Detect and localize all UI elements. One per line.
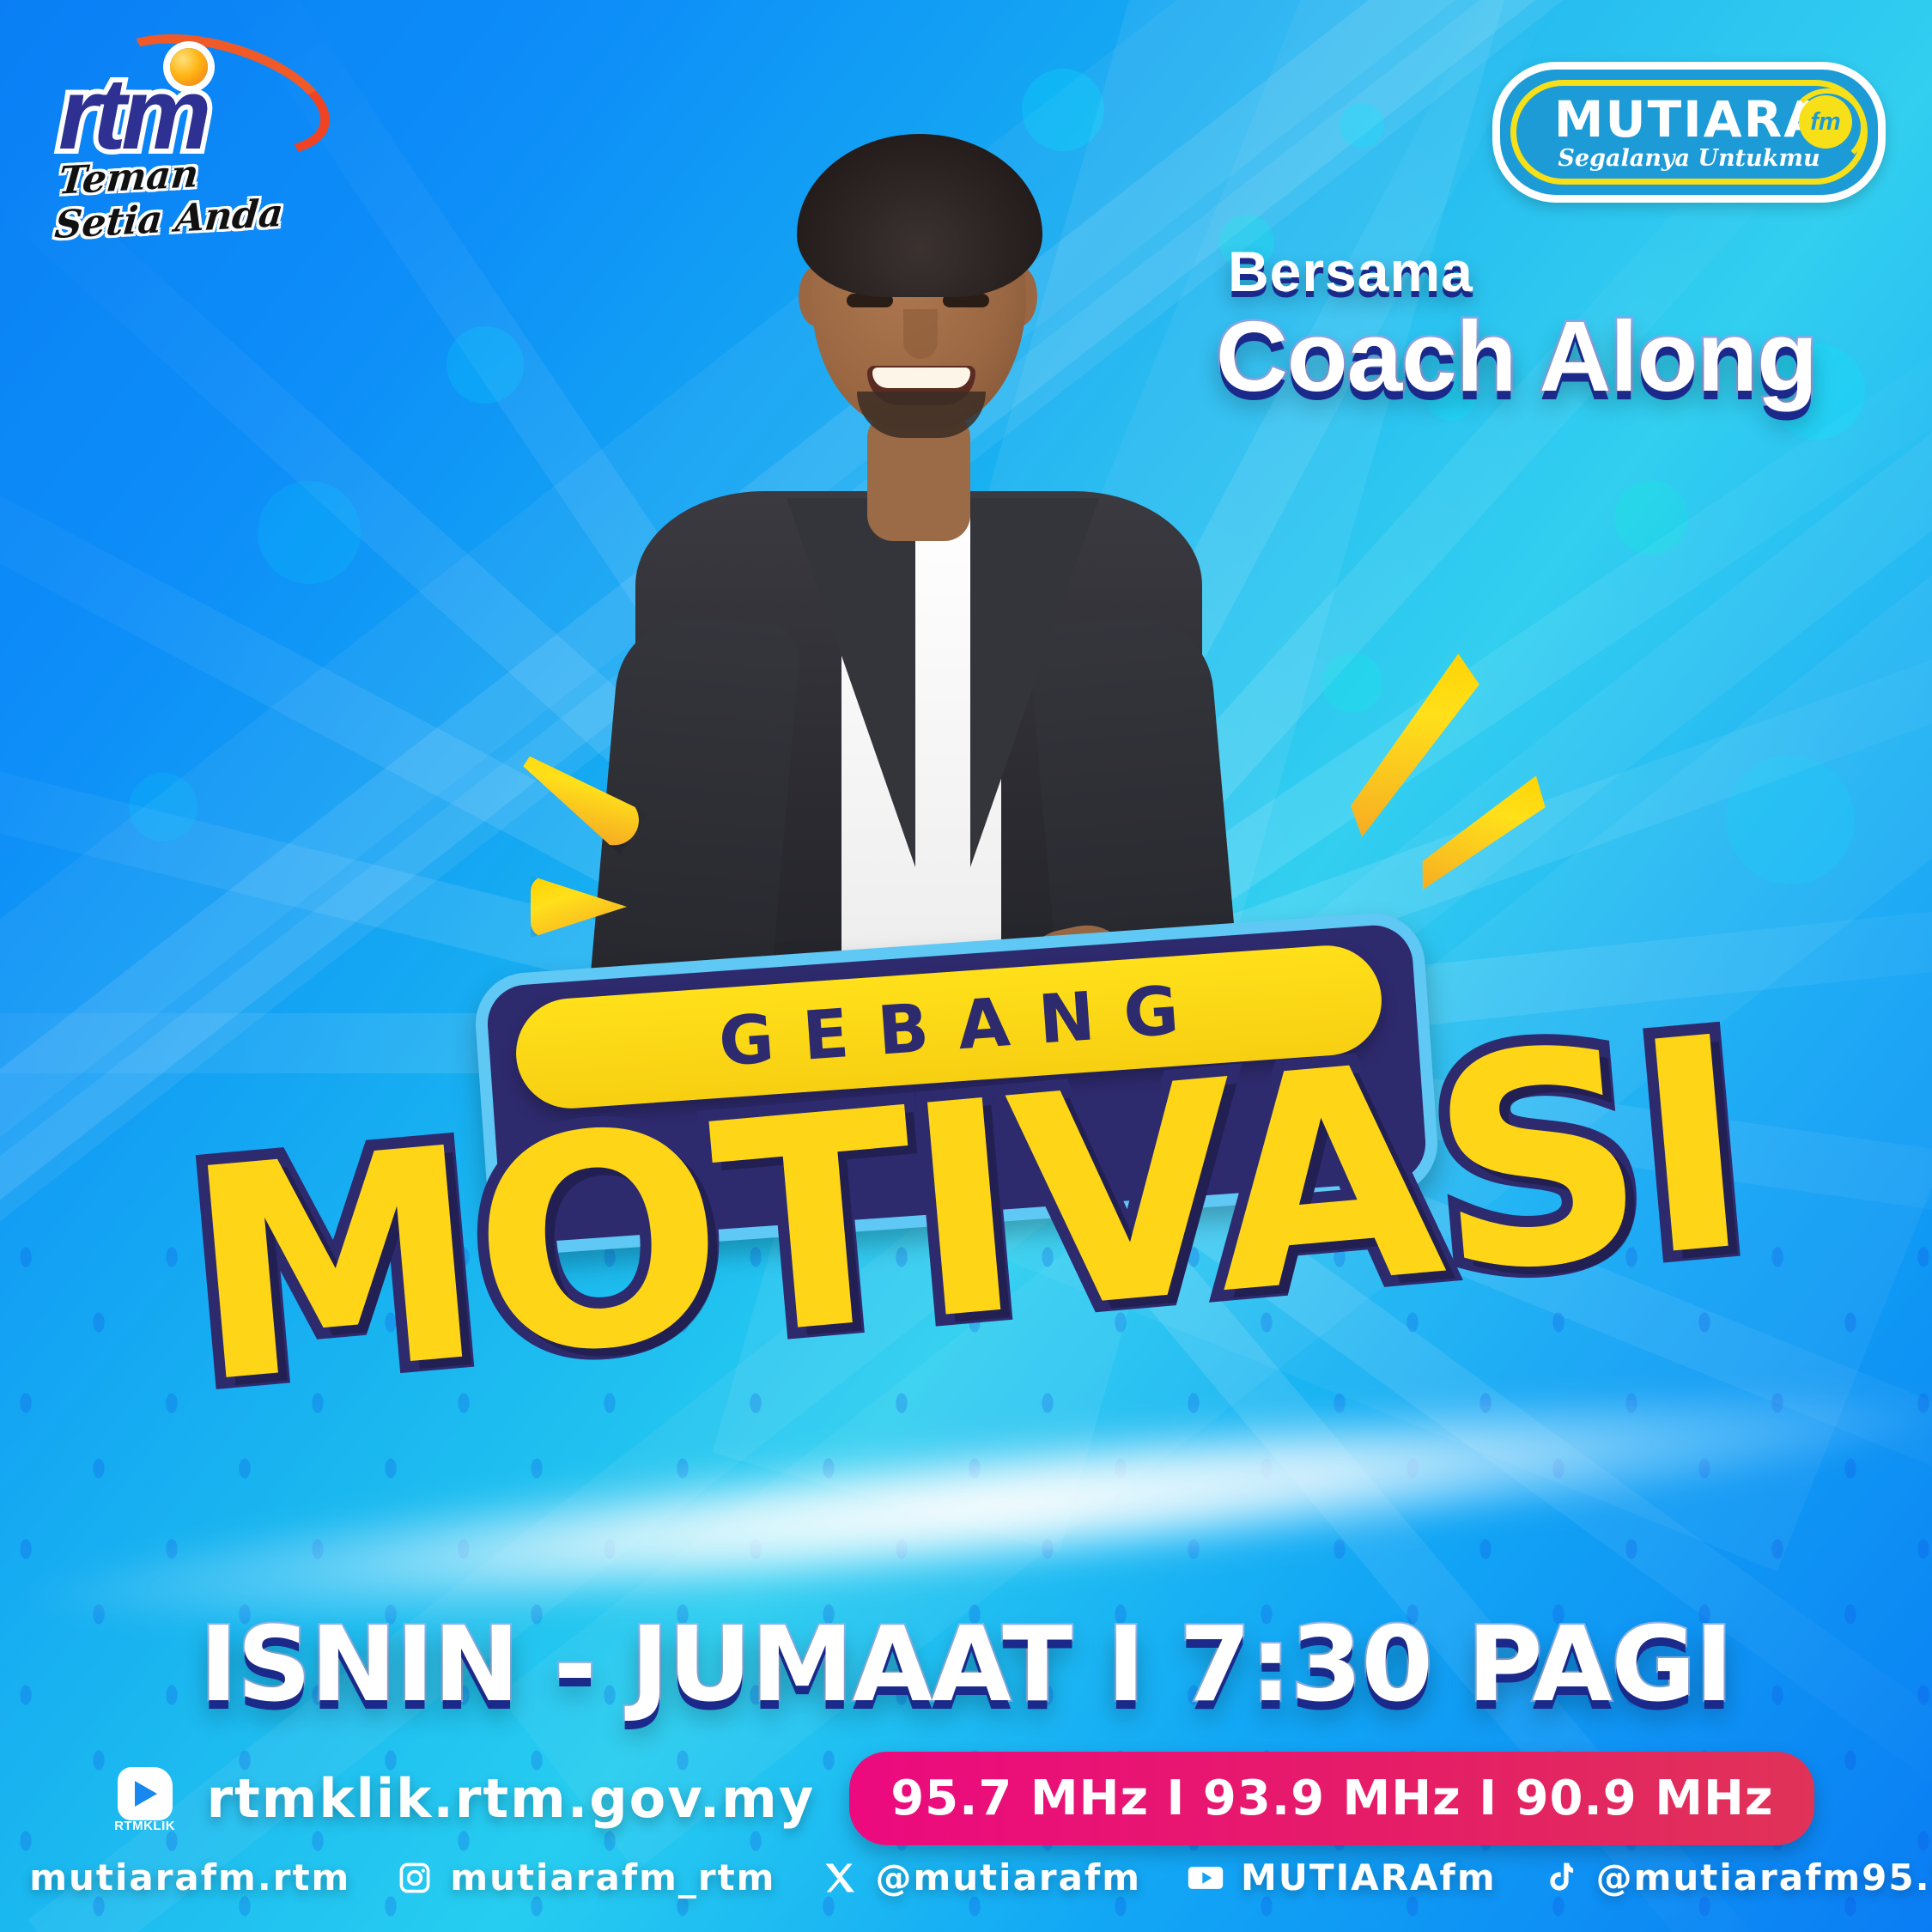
facebook-handle: mutiarafm.rtm <box>29 1856 350 1899</box>
social-item-tiktok[interactable]: @mutiarafm95.7 <box>1541 1856 1932 1899</box>
tiktok-icon <box>1541 1858 1581 1898</box>
social-bar: mutiarafm.rtm mutiarafm_rtm @mutiarafm M… <box>0 1856 1932 1899</box>
social-item-facebook[interactable]: mutiarafm.rtm <box>0 1856 350 1899</box>
instagram-handle: mutiarafm_rtm <box>450 1856 775 1899</box>
contact-row: RTMKLIK rtmklik.rtm.gov.my 95.7 MHz I 93… <box>0 1752 1932 1845</box>
frequency-badge: 95.7 MHz I 93.9 MHz I 90.9 MHz <box>849 1752 1814 1845</box>
social-item-youtube[interactable]: MUTIARAfm <box>1186 1856 1497 1899</box>
station-logo: MUTIARA Segalanya Untukmu fm <box>1492 62 1886 203</box>
instagram-icon <box>395 1858 434 1898</box>
show-title-block: GEBANG MOTIVASI <box>0 927 1932 1477</box>
rtm-wordmark: rtm <box>58 64 206 165</box>
accent-burst-right-upper <box>1341 638 1487 857</box>
facebook-icon <box>0 1858 14 1898</box>
schedule-line: ISNIN - JUMAAT I 7:30 PAGI <box>0 1606 1932 1725</box>
x-handle: @mutiarafm <box>875 1856 1141 1899</box>
x-twitter-icon <box>820 1858 860 1898</box>
rtmklik-icon[interactable]: RTMKLIK <box>118 1767 173 1831</box>
host-name: Coach Along <box>1216 299 1817 414</box>
host-photo <box>584 52 1236 1065</box>
tiktok-handle: @mutiarafm95.7 <box>1596 1856 1932 1899</box>
promo-poster: rtm rtm Teman Setia Anda MUTIARA Segalan… <box>0 0 1932 1932</box>
host-prefix: Bersama <box>1228 239 1473 304</box>
rtm-logo: rtm rtm Teman Setia Anda <box>53 33 311 187</box>
youtube-icon <box>1186 1858 1225 1898</box>
fm-badge: fm <box>1799 95 1852 149</box>
social-item-instagram[interactable]: mutiarafm_rtm <box>395 1856 775 1899</box>
youtube-handle: MUTIARAfm <box>1241 1856 1497 1899</box>
show-title: MOTIVASI <box>179 1006 1753 1419</box>
website-url[interactable]: rtmklik.rtm.gov.my <box>207 1767 816 1830</box>
accent-burst-right-lower <box>1409 753 1558 918</box>
rtmklik-icon-label: RTMKLIK <box>112 1819 178 1833</box>
rtm-tagline: Teman Setia Anda <box>53 146 315 247</box>
social-item-x[interactable]: @mutiarafm <box>820 1856 1141 1899</box>
show-title-wrap: MOTIVASI <box>0 990 1932 1435</box>
